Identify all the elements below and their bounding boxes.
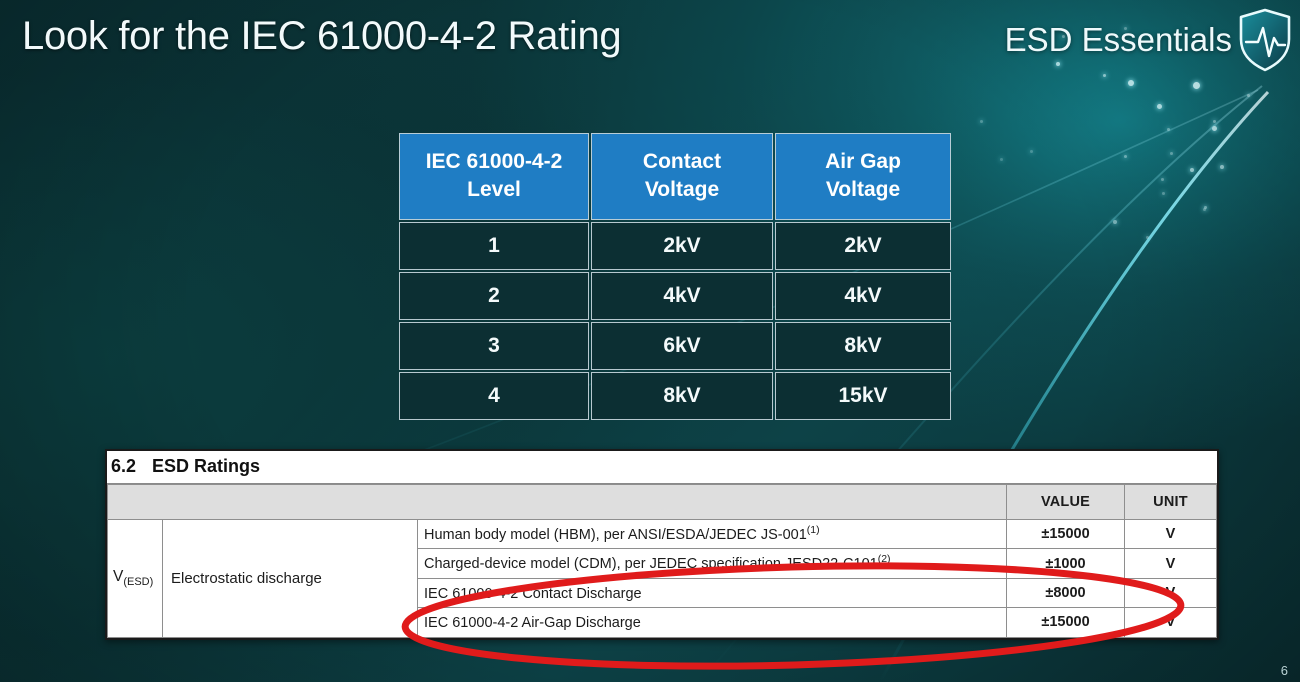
shield-pulse-icon <box>1238 8 1292 72</box>
cell-unit: V <box>1125 578 1217 607</box>
section-title: ESD Ratings <box>152 456 260 476</box>
cell-unit: V <box>1125 549 1217 578</box>
cell-value: ±15000 <box>1007 520 1125 549</box>
cell-contact: 8kV <box>591 372 773 420</box>
iec-level-table: IEC 61000-4-2 Level Contact Voltage Air … <box>397 131 953 422</box>
cell-value: ±15000 <box>1007 608 1125 637</box>
header-line-2: Voltage <box>645 178 719 201</box>
table-row: 2 4kV 4kV <box>399 272 951 320</box>
header-line-1: IEC 61000-4-2 <box>426 150 563 173</box>
header-line-1: Air Gap <box>825 150 901 173</box>
section-number: 6.2 <box>111 456 136 476</box>
header-line-1: Contact <box>643 150 721 173</box>
cell-parameter: Electrostatic discharge <box>163 520 418 638</box>
table-row: 3 6kV 8kV <box>399 322 951 370</box>
cell-contact: 2kV <box>591 222 773 270</box>
cell-airgap: 4kV <box>775 272 951 320</box>
cell-level: 3 <box>399 322 589 370</box>
cell-description: Human body model (HBM), per ANSI/ESDA/JE… <box>418 520 1007 549</box>
cell-contact: 4kV <box>591 272 773 320</box>
cell-airgap: 2kV <box>775 222 951 270</box>
table-row: 4 8kV 15kV <box>399 372 951 420</box>
footnote-marker: (1) <box>807 524 820 536</box>
table-row: V(ESD) Electrostatic discharge Human bod… <box>108 520 1217 549</box>
cell-value: ±8000 <box>1007 578 1125 607</box>
cell-unit: V <box>1125 520 1217 549</box>
brand-lockup: ESD Essentials <box>1005 8 1292 72</box>
description-text: Human body model (HBM), per ANSI/ESDA/JE… <box>424 527 807 543</box>
page-number: 6 <box>1281 663 1288 678</box>
column-header-value: VALUE <box>1007 485 1125 520</box>
cell-description: IEC 61000-4-2 Contact Discharge <box>418 578 1007 607</box>
datasheet-excerpt: 6.2ESD Ratings VALUE UNIT V(ESD) Electro… <box>105 449 1219 640</box>
header-line-2: Voltage <box>826 178 900 201</box>
cell-airgap: 15kV <box>775 372 951 420</box>
cell-level: 1 <box>399 222 589 270</box>
column-header-blank <box>108 485 1007 520</box>
esd-ratings-table: VALUE UNIT V(ESD) Electrostatic discharg… <box>107 484 1217 638</box>
symbol-base: V <box>113 568 123 585</box>
slide-canvas: Look for the IEC 61000-4-2 Rating ESD Es… <box>0 0 1300 682</box>
cell-unit: V <box>1125 608 1217 637</box>
cell-description: IEC 61000-4-2 Air-Gap Discharge <box>418 608 1007 637</box>
symbol-subscript: (ESD) <box>123 576 153 588</box>
datasheet-section-heading: 6.2ESD Ratings <box>107 451 1217 484</box>
description-text: IEC 61000-4-2 Contact Discharge <box>424 586 642 602</box>
brand-name: ESD Essentials <box>1005 21 1232 59</box>
table-row: 1 2kV 2kV <box>399 222 951 270</box>
column-header-unit: UNIT <box>1125 485 1217 520</box>
page-title: Look for the IEC 61000-4-2 Rating <box>22 14 621 59</box>
header-line-2: Level <box>467 178 521 201</box>
cell-level: 2 <box>399 272 589 320</box>
cell-airgap: 8kV <box>775 322 951 370</box>
cell-value: ±1000 <box>1007 549 1125 578</box>
description-text: IEC 61000-4-2 Air-Gap Discharge <box>424 615 641 631</box>
cell-symbol: V(ESD) <box>108 520 163 638</box>
cell-level: 4 <box>399 372 589 420</box>
description-text: Charged-device model (CDM), per JEDEC sp… <box>424 556 878 572</box>
cell-description: Charged-device model (CDM), per JEDEC sp… <box>418 549 1007 578</box>
column-header-air-gap-voltage: Air Gap Voltage <box>775 133 951 220</box>
column-header-level: IEC 61000-4-2 Level <box>399 133 589 220</box>
column-header-contact-voltage: Contact Voltage <box>591 133 773 220</box>
cell-contact: 6kV <box>591 322 773 370</box>
footnote-marker: (2) <box>878 553 891 565</box>
table-header-row: VALUE UNIT <box>108 485 1217 520</box>
table-header-row: IEC 61000-4-2 Level Contact Voltage Air … <box>399 133 951 220</box>
